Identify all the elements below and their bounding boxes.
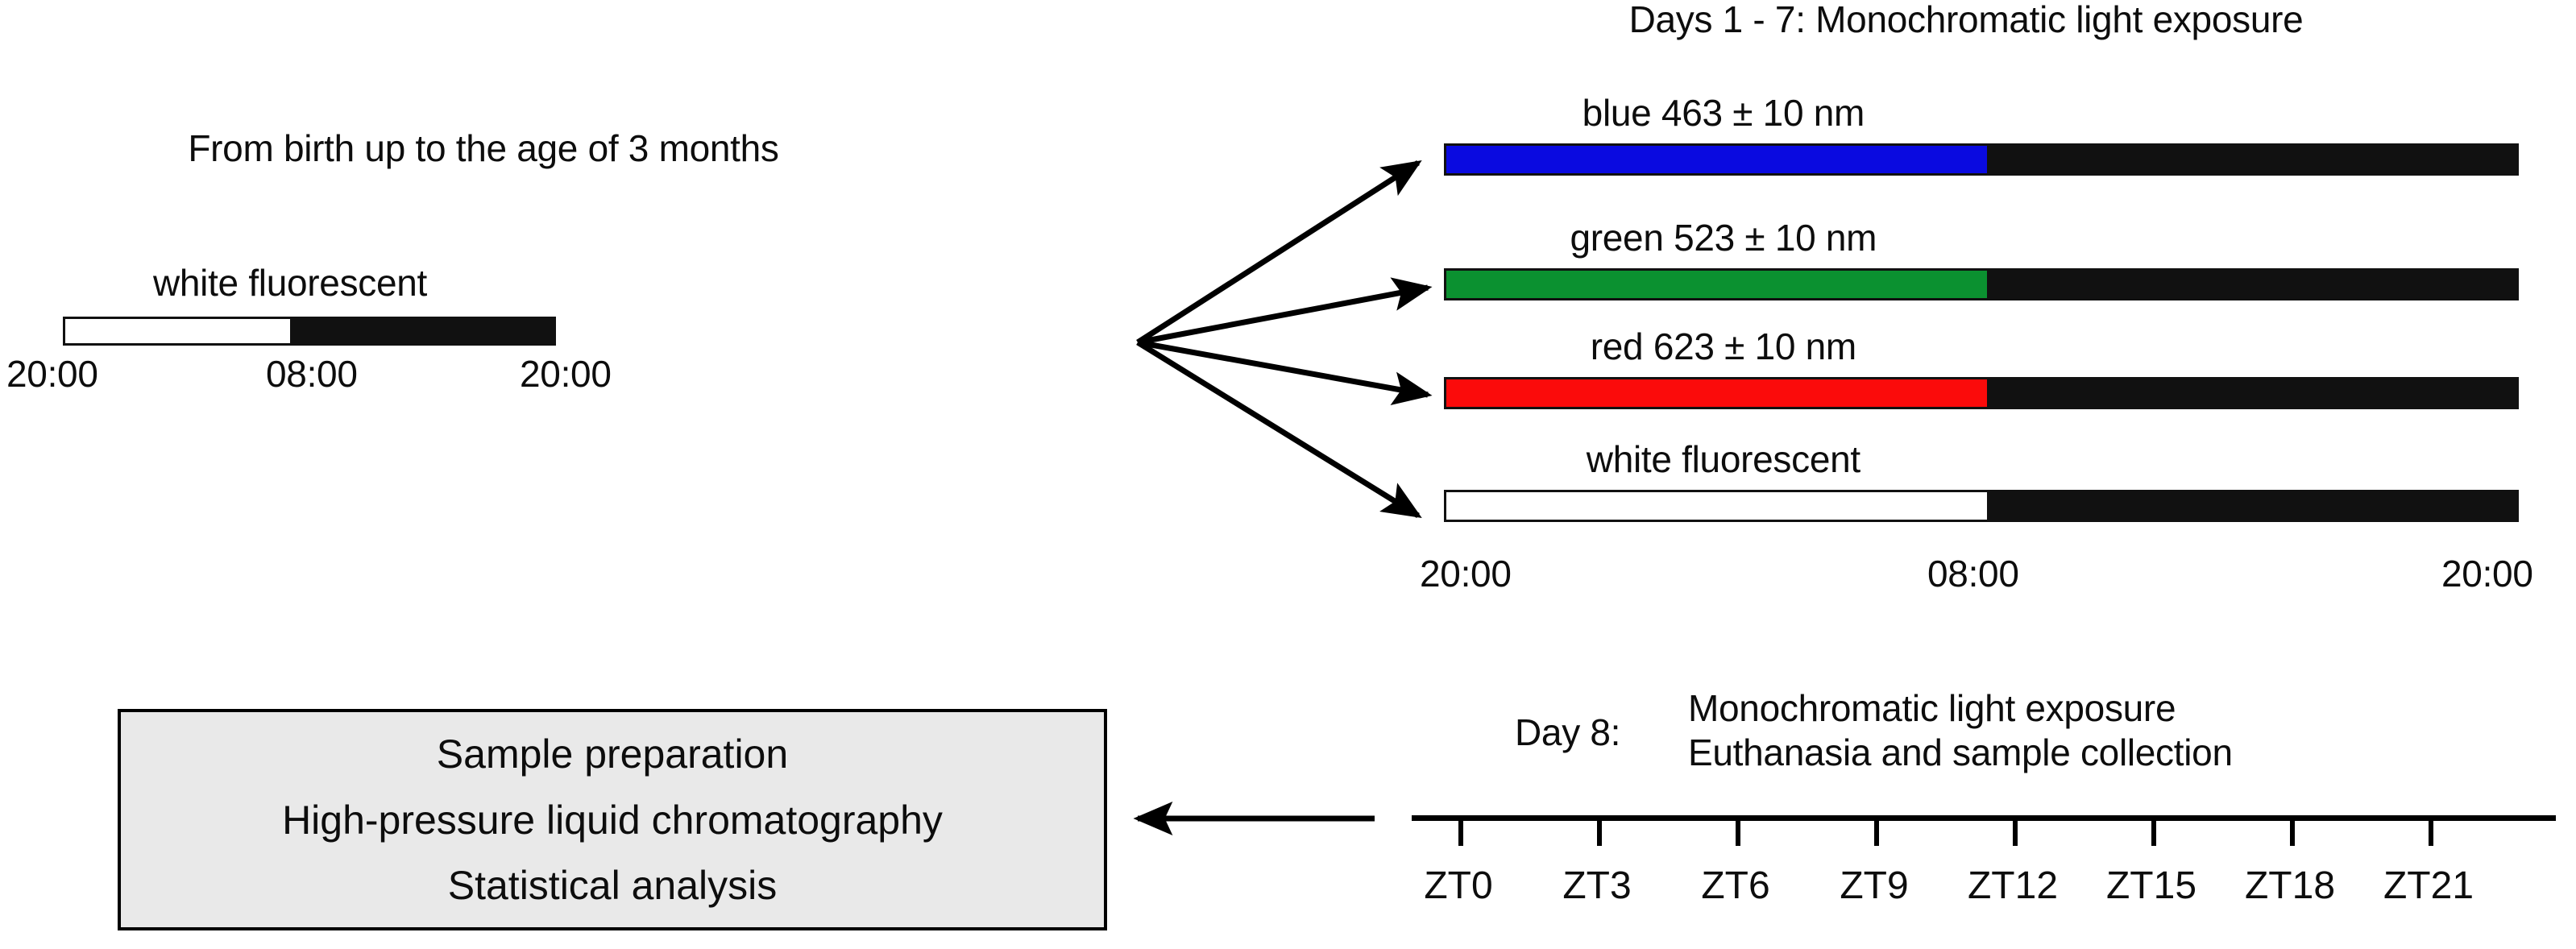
monochromatic-bar-dark-segment-0 — [1987, 146, 2516, 173]
zt-label-zt3: ZT3 — [1528, 864, 1666, 908]
zt-tick-zt18 — [2290, 818, 2295, 846]
monochromatic-bar-1 — [1444, 268, 2519, 300]
day8-label: Day 8: — [1515, 713, 1620, 753]
zt-axis-line — [1412, 815, 2556, 821]
results-line-1: Sample preparation — [437, 731, 788, 777]
monochromatic-bar-label-0: blue 463 ± 10 nm — [1347, 93, 2100, 134]
left-axis-time-start: 20:00 — [6, 354, 98, 395]
left-bar-dark-segment — [290, 319, 554, 343]
monochromatic-bar-3 — [1444, 490, 2519, 522]
zt-tick-zt9 — [1874, 818, 1879, 846]
right-axis-time-end: 20:00 — [2441, 554, 2533, 595]
zt-label-zt9: ZT9 — [1805, 864, 1943, 908]
zt-label-zt12: ZT12 — [1943, 864, 2082, 908]
monochromatic-bar-label-3: white fluorescent — [1347, 440, 2100, 480]
zt-tick-zt0 — [1458, 818, 1463, 846]
monochromatic-bar-light-segment-0 — [1446, 146, 1987, 173]
zt-label-zt6: ZT6 — [1666, 864, 1805, 908]
zt-tick-zt6 — [1736, 818, 1740, 846]
monochromatic-bar-2 — [1444, 377, 2519, 409]
left-axis-time-end: 20:00 — [520, 354, 612, 395]
left-bar-label: white fluorescent — [48, 263, 532, 304]
monochromatic-bar-dark-segment-1 — [1987, 271, 2516, 298]
zt-label-zt18: ZT18 — [2221, 864, 2359, 908]
monochromatic-bar-light-segment-2 — [1446, 379, 1987, 407]
day8-line1: Monochromatic light exposure — [1688, 689, 2176, 729]
results-line-2: High-pressure liquid chromatography — [282, 797, 943, 843]
zt-label-zt21: ZT21 — [2359, 864, 2498, 908]
left-bar-light-segment — [65, 319, 290, 343]
zt-label-zt15: ZT15 — [2082, 864, 2221, 908]
results-line-3: Statistical analysis — [448, 862, 778, 909]
monochromatic-bar-light-segment-1 — [1446, 271, 1987, 298]
results-box: Sample preparation High-pressure liquid … — [118, 709, 1107, 930]
zt-tick-zt12 — [2013, 818, 2018, 846]
right-axis-time-start: 20:00 — [1420, 554, 1512, 595]
monochromatic-bar-light-segment-3 — [1446, 492, 1987, 520]
zt-tick-zt3 — [1597, 818, 1602, 846]
left-light-dark-bar — [63, 317, 556, 346]
monochromatic-bar-dark-segment-3 — [1987, 492, 2516, 520]
zt-tick-zt21 — [2429, 818, 2433, 846]
day8-line2: Euthanasia and sample collection — [1688, 733, 2233, 773]
zt-label-zt0: ZT0 — [1389, 864, 1528, 908]
monochromatic-bar-0 — [1444, 143, 2519, 176]
monochromatic-bar-label-1: green 523 ± 10 nm — [1347, 218, 2100, 259]
arrow-to-white-bar — [1138, 342, 1418, 516]
monochromatic-bar-label-2: red 623 ± 10 nm — [1347, 327, 2100, 367]
monochromatic-bar-dark-segment-2 — [1987, 379, 2516, 407]
right-panel-heading: Days 1 - 7: Monochromatic light exposure — [1362, 0, 2570, 40]
left-panel-heading: From birth up to the age of 3 months — [89, 129, 878, 169]
right-axis-time-mid: 08:00 — [1927, 554, 2019, 595]
left-axis-time-mid: 08:00 — [266, 354, 358, 395]
zt-tick-zt15 — [2151, 818, 2156, 846]
